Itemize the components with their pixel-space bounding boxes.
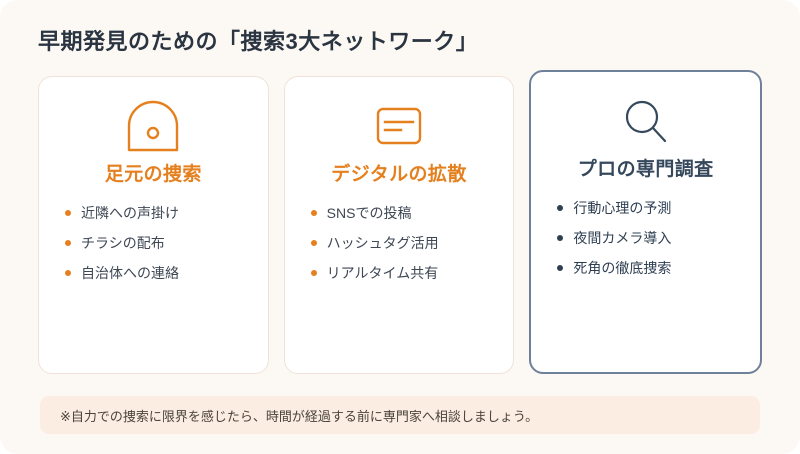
list-item-label: 行動心理の予測 [573, 200, 671, 216]
bullet-dot-icon [311, 270, 317, 276]
list-item-label: 死角の徹底捜索 [573, 260, 671, 276]
list-item-label: リアルタイム共有 [327, 265, 439, 281]
bullet-dot-icon [65, 240, 71, 246]
footer-note-banner: ※自力での捜索に限界を感じたら、時間が経過する前に専門家へ相談しましょう。 [40, 396, 760, 434]
post-card-lines-icon [368, 95, 430, 157]
list-item: 自治体への連絡 [65, 258, 179, 288]
list-item-label: 夜間カメラ導入 [573, 230, 671, 246]
card-bullet-list: 近隣への声掛け チラシの配布 自治体への連絡 [65, 198, 179, 288]
card-digital-spread[interactable]: デジタルの拡散 SNSでの投稿 ハッシュタグ活用 リアルタイム共有 [284, 76, 515, 374]
card-bullet-list: SNSでの投稿 ハッシュタグ活用 リアルタイム共有 [311, 198, 439, 288]
bullet-dot-icon [557, 265, 563, 271]
bullet-dot-icon [557, 235, 563, 241]
bullet-dot-icon [311, 240, 317, 246]
list-item: リアルタイム共有 [311, 258, 439, 288]
list-item: 近隣への声掛け [65, 198, 179, 228]
list-item: 死角の徹底捜索 [557, 253, 671, 283]
magnifying-glass-icon [615, 90, 677, 152]
card-footwork-search[interactable]: 足元の捜索 近隣への声掛け チラシの配布 自治体への連絡 [38, 76, 269, 374]
card-heading: プロの専門調査 [578, 154, 714, 181]
bullet-dot-icon [557, 205, 563, 211]
list-item: 行動心理の予測 [557, 193, 671, 223]
bullet-dot-icon [65, 210, 71, 216]
list-item-label: チラシの配布 [81, 235, 165, 251]
list-item: ハッシュタグ活用 [311, 228, 439, 258]
list-item-label: ハッシュタグ活用 [327, 235, 439, 251]
list-item: 夜間カメラ導入 [557, 223, 671, 253]
list-item: チラシの配布 [65, 228, 179, 258]
footer-note-text: ※自力での捜索に限界を感じたら、時間が経過する前に専門家へ相談しましょう。 [60, 406, 538, 425]
list-item-label: SNSでの投稿 [327, 205, 412, 221]
list-item-label: 自治体への連絡 [81, 265, 179, 281]
bullet-dot-icon [311, 210, 317, 216]
card-heading: 足元の捜索 [105, 159, 202, 186]
infographic-page: 早期発見のための「捜索3大ネットワーク」 足元の捜索 近隣への声掛け チラシの配… [0, 0, 800, 454]
card-heading: デジタルの拡散 [331, 159, 466, 186]
list-item: SNSでの投稿 [311, 198, 439, 228]
network-cards-row: 足元の捜索 近隣への声掛け チラシの配布 自治体への連絡 デジタルの拡散 SNS… [38, 76, 762, 374]
arch-door-with-peephole-icon [122, 95, 184, 157]
list-item-label: 近隣への声掛け [81, 205, 179, 221]
page-title: 早期発見のための「捜索3大ネットワーク」 [38, 24, 478, 56]
card-bullet-list: 行動心理の予測 夜間カメラ導入 死角の徹底捜索 [557, 193, 671, 283]
card-professional-investigation[interactable]: プロの専門調査 行動心理の予測 夜間カメラ導入 死角の徹底捜索 [529, 70, 762, 374]
bullet-dot-icon [65, 270, 71, 276]
